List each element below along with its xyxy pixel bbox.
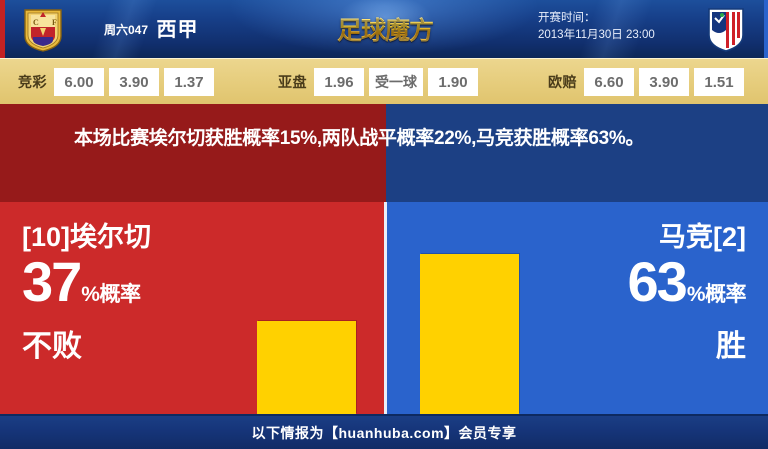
- odds-cell-handicap[interactable]: 受一球: [369, 68, 423, 96]
- odds-group-asian-handicap: 亚盘 1.96 受一球 1.90: [278, 68, 483, 96]
- svg-text:C: C: [33, 18, 39, 27]
- probability-chart: [10]埃尔切 37%概率 不败 马竞[2] 63%概率 胜: [0, 202, 768, 414]
- match-title: 周六047 西甲: [104, 13, 198, 42]
- away-probability-unit: %概率: [687, 283, 746, 306]
- footer-top-divider: [0, 414, 768, 416]
- away-outcome-label: 胜: [628, 327, 746, 367]
- odds-cell-away[interactable]: 1.37: [164, 68, 214, 96]
- odds-bar: 竞彩 6.00 3.90 1.37 亚盘 1.96 受一球 1.90 欧赔 6.…: [0, 58, 768, 105]
- brand-logo: 足球魔方: [318, 5, 452, 53]
- home-team-name: [10]埃尔切: [22, 220, 151, 254]
- footer-notice-text: 以下情报为【huanhuba.com】会员专享: [0, 423, 768, 443]
- home-probability-unit: %概率: [81, 283, 140, 306]
- odds-group-european-odds: 欧赔 6.60 3.90 1.51: [548, 68, 749, 96]
- odds-cell-home[interactable]: 1.96: [314, 68, 364, 96]
- odds-cell-away[interactable]: 1.51: [694, 68, 744, 96]
- league-label: 西甲: [156, 19, 198, 41]
- header-right-accent: [764, 0, 768, 58]
- atletico-madrid-crest-icon: [706, 6, 746, 52]
- odds-group-jingcai: 竞彩 6.00 3.90 1.37: [18, 68, 219, 96]
- elche-crest-icon: C F: [22, 6, 64, 52]
- away-team-name: 马竞[2]: [628, 220, 746, 254]
- odds-group-title: 亚盘: [278, 68, 314, 96]
- brand-logo-text: 足球魔方: [337, 11, 433, 47]
- odds-cell-away[interactable]: 1.90: [428, 68, 478, 96]
- panel-divider: [384, 202, 387, 414]
- odds-group-title: 欧赔: [548, 68, 584, 96]
- svg-text:F: F: [52, 18, 57, 27]
- odds-cell-draw[interactable]: 3.90: [639, 68, 689, 96]
- odds-cell-draw[interactable]: 3.90: [109, 68, 159, 96]
- home-probability-value: 37: [22, 250, 80, 313]
- header-left-accent: [0, 0, 5, 58]
- match-round-label: 周六047: [104, 23, 148, 37]
- home-probability-bar: [257, 321, 356, 414]
- summary-banner: 本场比赛埃尔切获胜概率15%,两队战平概率22%,马竞获胜概率63%。: [0, 104, 768, 202]
- away-probability: 63%概率: [628, 254, 746, 325]
- home-probability: 37%概率: [22, 254, 151, 325]
- away-probability-bar: [420, 254, 519, 414]
- odds-cell-home[interactable]: 6.00: [54, 68, 104, 96]
- kickoff-time: 2013年11月30日 23:00: [538, 27, 655, 44]
- odds-group-title: 竞彩: [18, 68, 54, 96]
- footer-bar: 以下情报为【huanhuba.com】会员专享: [0, 414, 768, 449]
- kickoff-label: 开赛时间：: [538, 10, 655, 27]
- away-team-stats: 马竞[2] 63%概率 胜: [628, 220, 746, 367]
- away-probability-value: 63: [628, 250, 686, 313]
- home-outcome-label: 不败: [22, 327, 151, 367]
- header-bar: C F 周六047 西甲 足球魔方 开赛时间： 2013年11月30日 23:0…: [0, 0, 768, 58]
- odds-cell-home[interactable]: 6.60: [584, 68, 634, 96]
- match-probability-infographic: C F 周六047 西甲 足球魔方 开赛时间： 2013年11月30日 23:0…: [0, 0, 768, 449]
- kickoff-info: 开赛时间： 2013年11月30日 23:00: [538, 10, 655, 44]
- home-team-stats: [10]埃尔切 37%概率 不败: [22, 220, 151, 367]
- summary-banner-text: 本场比赛埃尔切获胜概率15%,两队战平概率22%,马竞获胜概率63%。: [74, 124, 704, 154]
